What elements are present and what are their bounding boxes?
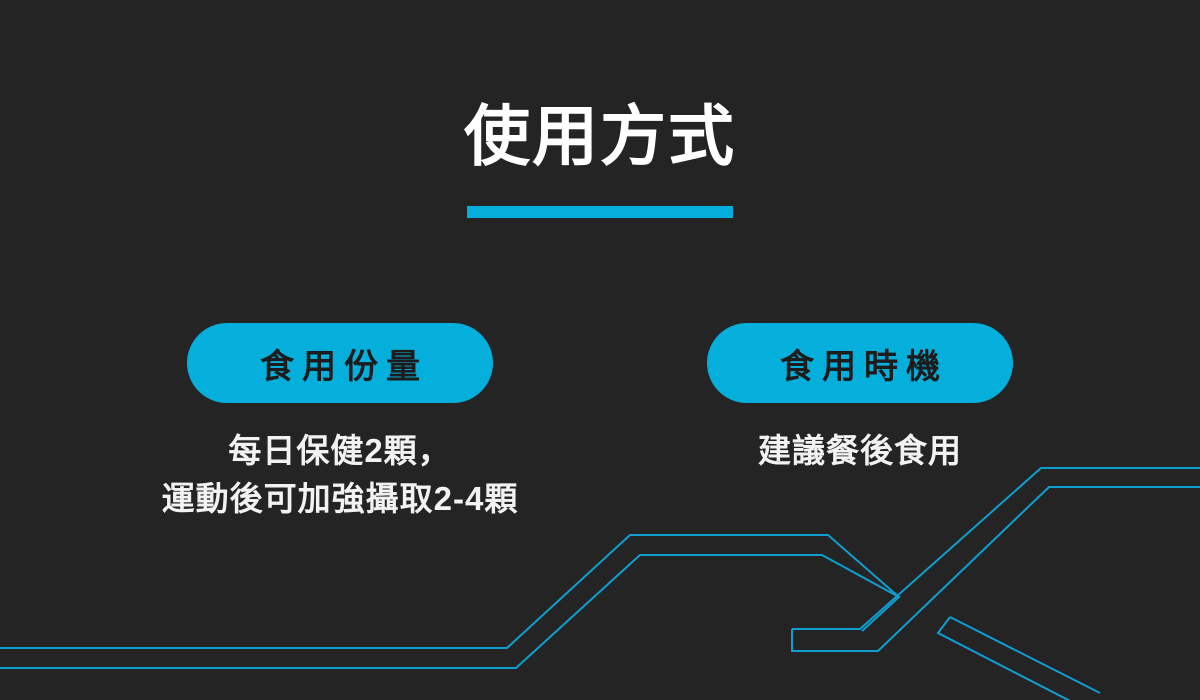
pill-serving-timing[interactable]: 食用時機 [707,323,1013,403]
description-line: 運動後可加強攝取2-4顆 [162,475,519,523]
slide-root: 使用方式 食用份量 每日保健2顆， 運動後可加強攝取2-4顆 食用時機 建議餐後… [0,0,1200,700]
heading-block: 使用方式 [0,100,1200,218]
circuit-line-angled-bar [938,617,1078,700]
description-line: 每日保健2顆， [162,427,519,475]
circuit-path-left-band [0,535,900,648]
page-title: 使用方式 [0,100,1200,174]
circuit-line-angled-bar-inner [950,617,1100,693]
description-serving-timing: 建議餐後食用 [758,427,962,475]
column-serving-amount: 食用份量 每日保健2顆， 運動後可加強攝取2-4顆 [80,323,600,523]
pill-serving-amount[interactable]: 食用份量 [187,323,493,403]
description-line: 建議餐後食用 [758,427,962,475]
column-serving-timing: 食用時機 建議餐後食用 [600,323,1120,475]
circuit-line-left-outer [0,535,899,648]
title-underline-bar [467,206,733,218]
circuit-line-left-inner [0,555,899,668]
description-serving-amount: 每日保健2顆， 運動後可加強攝取2-4顆 [162,427,519,523]
info-columns: 食用份量 每日保健2顆， 運動後可加強攝取2-4顆 食用時機 建議餐後食用 [0,323,1200,523]
